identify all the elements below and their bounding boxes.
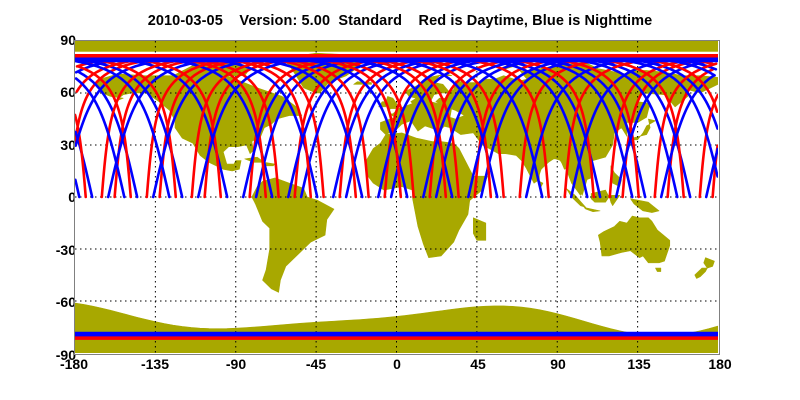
landmass-new-guinea (630, 199, 659, 213)
x-tick-label: 45 (438, 357, 518, 371)
plot-area (74, 40, 720, 355)
ground-track-plot (75, 41, 718, 353)
figure-title: 2010-03-05 Version: 5.00 Standard Red is… (0, 13, 800, 29)
landmass-australia (598, 216, 669, 263)
landmass-madagascar (473, 218, 486, 241)
landmass-tasmania (655, 268, 660, 271)
landmass-new-zealand-s (695, 268, 708, 278)
landmass-south-america (252, 178, 334, 292)
y-tick-label: 0 (16, 190, 76, 204)
ground-track-map-figure: 2010-03-05 Version: 5.00 Standard Red is… (0, 0, 800, 400)
y-tick-label: -60 (16, 295, 76, 309)
x-tick-label: 0 (357, 357, 437, 371)
landmass-java (584, 207, 600, 211)
x-tick-label: 90 (518, 357, 598, 371)
x-tick-label: -180 (34, 357, 114, 371)
landmass-new-zealand-n (704, 258, 715, 268)
landmass-antarctica (75, 303, 718, 353)
x-tick-label: 135 (599, 357, 679, 371)
y-tick-label: 90 (16, 33, 76, 47)
orbit-track-nighttime (75, 180, 79, 197)
x-tick-label: -45 (276, 357, 356, 371)
y-tick-label: -30 (16, 243, 76, 257)
y-tick-label: 30 (16, 138, 76, 152)
y-tick-label: 60 (16, 85, 76, 99)
x-tick-label: -90 (196, 357, 276, 371)
x-tick-label: 180 (680, 357, 760, 371)
x-tick-label: -135 (115, 357, 195, 371)
